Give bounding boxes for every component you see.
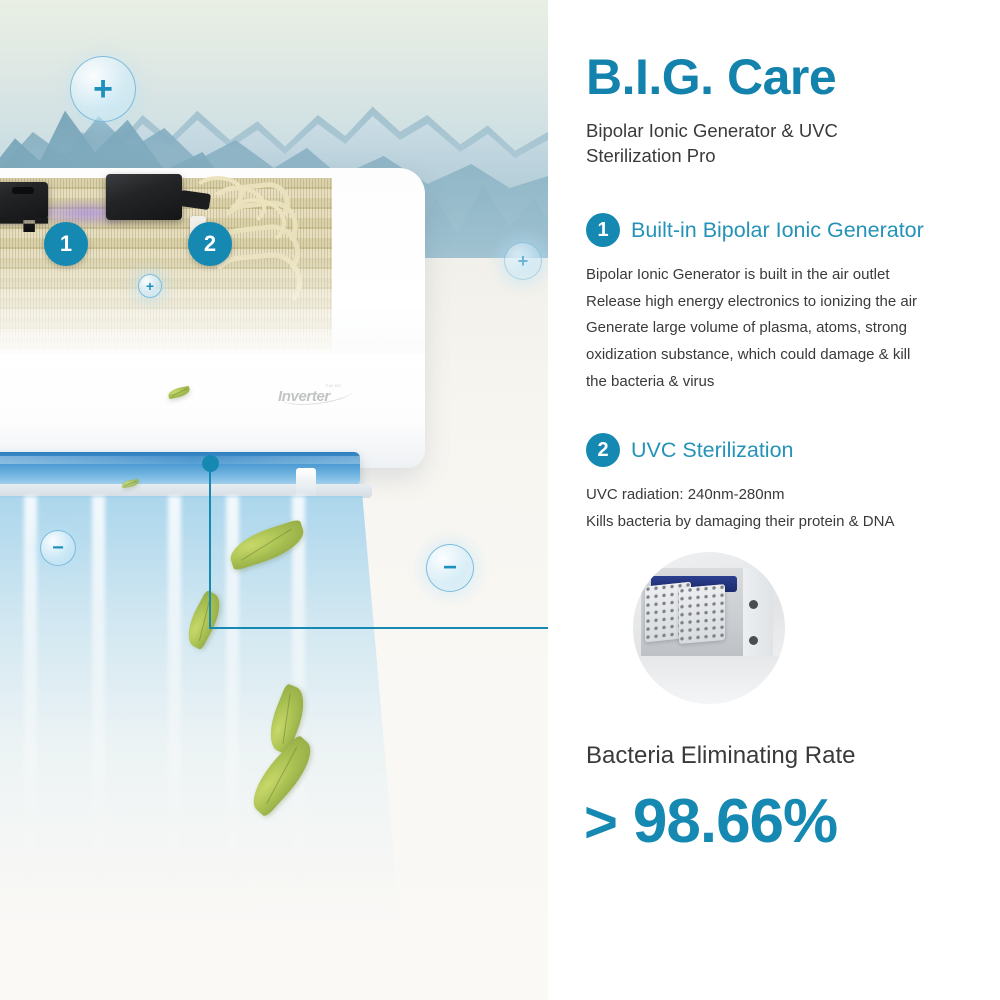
louver-sheen xyxy=(0,456,360,464)
page-title: B.I.G. Care xyxy=(586,48,836,106)
air-conditioner-unit: Full DC Inverter xyxy=(0,168,425,478)
airflow-beam xyxy=(168,496,181,896)
uvc-mesh-filter xyxy=(679,584,725,644)
feature-2-title: UVC Sterilization xyxy=(631,438,794,463)
feature-1-line: the bacteria & virus xyxy=(586,369,924,396)
ac-front-panel xyxy=(0,354,425,468)
ion-bubble-positive: + xyxy=(70,56,136,122)
ac-vane-tab xyxy=(296,468,316,496)
feature-2-heading: 2 UVC Sterilization xyxy=(586,433,894,467)
feature-1-line: Generate large volume of plasma, atoms, … xyxy=(586,315,924,342)
stat-comparator: > xyxy=(584,789,617,856)
inverter-logo-text: Inverter xyxy=(278,388,330,405)
feature-2-line: UVC radiation: 240nm-280nm xyxy=(586,482,894,509)
uvc-module-photo xyxy=(633,552,785,704)
product-marker-1-label: 1 xyxy=(60,231,72,257)
ion-bubble-positive: + xyxy=(138,274,162,298)
page-subtitle: Bipolar Ionic Generator & UVC Sterilizat… xyxy=(586,119,916,169)
stat-value: 98.66% xyxy=(633,786,837,857)
product-marker-2: 2 xyxy=(188,222,232,266)
feature-section-2: 2 UVC Sterilization UVC radiation: 240nm… xyxy=(586,433,894,535)
callout-line-vertical xyxy=(209,470,211,629)
product-image-panel: Full DC Inverter + + + − xyxy=(0,0,548,1000)
feature-1-badge: 1 xyxy=(586,213,620,247)
infographic-page: Full DC Inverter + + + − xyxy=(0,0,1000,1000)
uvc-lamp-module xyxy=(106,174,182,220)
ion-bubble-positive: + xyxy=(504,242,542,280)
feature-2-badge-label: 2 xyxy=(597,439,608,462)
feature-1-body: Bipolar Ionic Generator is built in the … xyxy=(586,262,924,395)
ac-air-vane xyxy=(0,484,372,498)
uvc-base-shelf xyxy=(633,656,785,704)
ion-bubble-negative: − xyxy=(426,544,474,592)
inverter-logo: Full DC Inverter xyxy=(278,380,356,406)
airflow-beam xyxy=(92,496,105,896)
uvc-knob xyxy=(749,600,758,609)
feature-1-badge-label: 1 xyxy=(597,219,608,242)
feature-1-line: oxidization substance, which could damag… xyxy=(586,342,924,369)
feature-2-line: Kills bacteria by damaging their protein… xyxy=(586,509,894,536)
feature-1-heading: 1 Built-in Bipolar Ionic Generator xyxy=(586,213,924,247)
stat-label: Bacteria Eliminating Rate xyxy=(586,742,855,770)
uvc-side-wall xyxy=(743,568,773,668)
product-marker-2-label: 2 xyxy=(204,231,216,257)
uvc-knob xyxy=(749,636,758,645)
stat-value-group: > 98.66% xyxy=(584,786,837,857)
feature-2-body: UVC radiation: 240nm-280nm Kills bacteri… xyxy=(586,482,894,535)
feature-2-badge: 2 xyxy=(586,433,620,467)
feature-1-line: Release high energy electronics to ioniz… xyxy=(586,289,924,316)
feature-1-title: Built-in Bipolar Ionic Generator xyxy=(631,218,924,243)
product-marker-1: 1 xyxy=(44,222,88,266)
bipolar-ionic-generator-module xyxy=(0,182,48,220)
feature-1-line: Bipolar Ionic Generator is built in the … xyxy=(586,262,924,289)
content-panel: B.I.G. Care Bipolar Ionic Generator & UV… xyxy=(548,0,1000,1000)
feature-section-1: 1 Built-in Bipolar Ionic Generator Bipol… xyxy=(586,213,924,395)
ion-bubble-negative: − xyxy=(40,530,76,566)
